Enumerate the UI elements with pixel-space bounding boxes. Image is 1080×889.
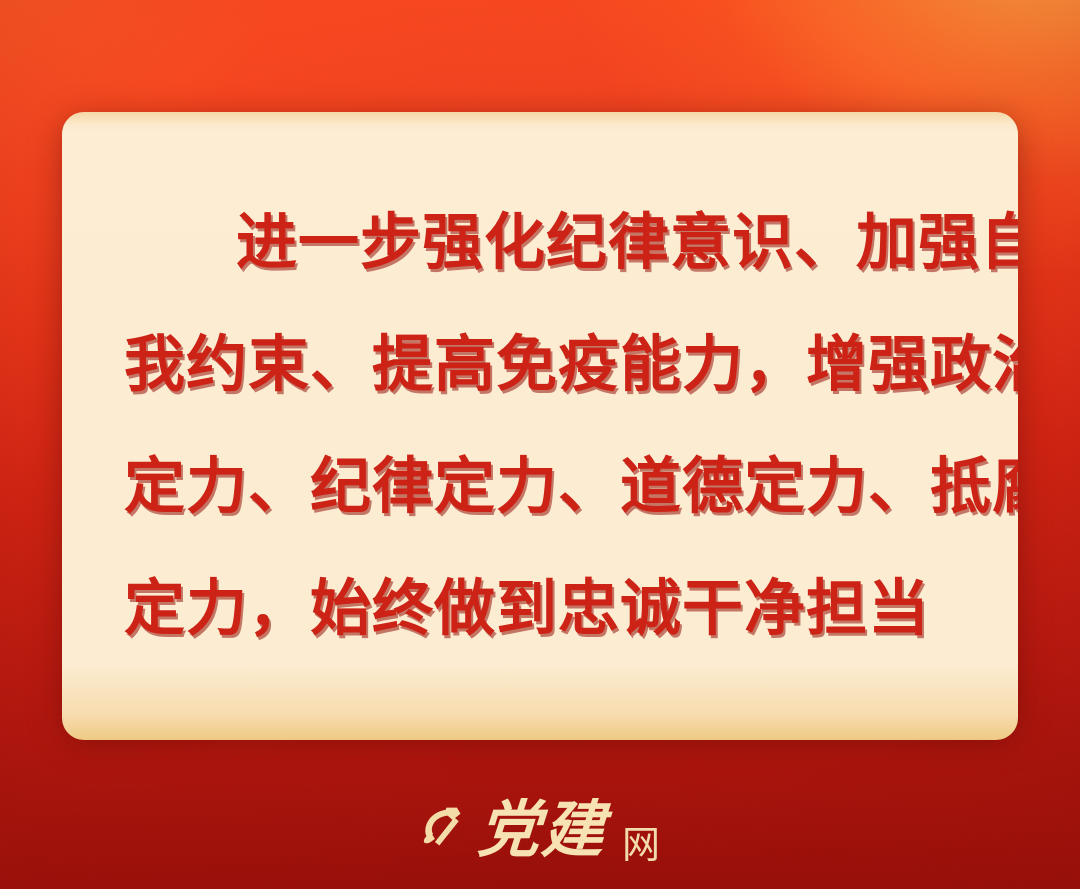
- party-emblem-hammer-sickle-icon: [420, 805, 464, 849]
- logo-suffix-text: 网: [622, 826, 660, 864]
- site-logo: 党建 网: [0, 782, 1080, 878]
- poster-canvas: 进一步强化纪律意识、加强自 我约束、提高免疫能力，增强政治 定力、纪律定力、道德…: [0, 0, 1080, 889]
- quote-card: 进一步强化纪律意识、加强自 我约束、提高免疫能力，增强政治 定力、纪律定力、道德…: [62, 112, 1018, 740]
- quote-line-4: 定力，始终做到忠诚干净担当: [124, 548, 956, 670]
- quote-line-1: 进一步强化纪律意识、加强自: [124, 182, 956, 304]
- quote-line-3: 定力、纪律定力、道德定力、抵腐: [124, 426, 956, 548]
- logo-main-text: 党建: [476, 799, 608, 861]
- quote-text-block: 进一步强化纪律意识、加强自 我约束、提高免疫能力，增强政治 定力、纪律定力、道德…: [62, 112, 1018, 740]
- quote-line-2: 我约束、提高免疫能力，增强政治: [124, 304, 956, 426]
